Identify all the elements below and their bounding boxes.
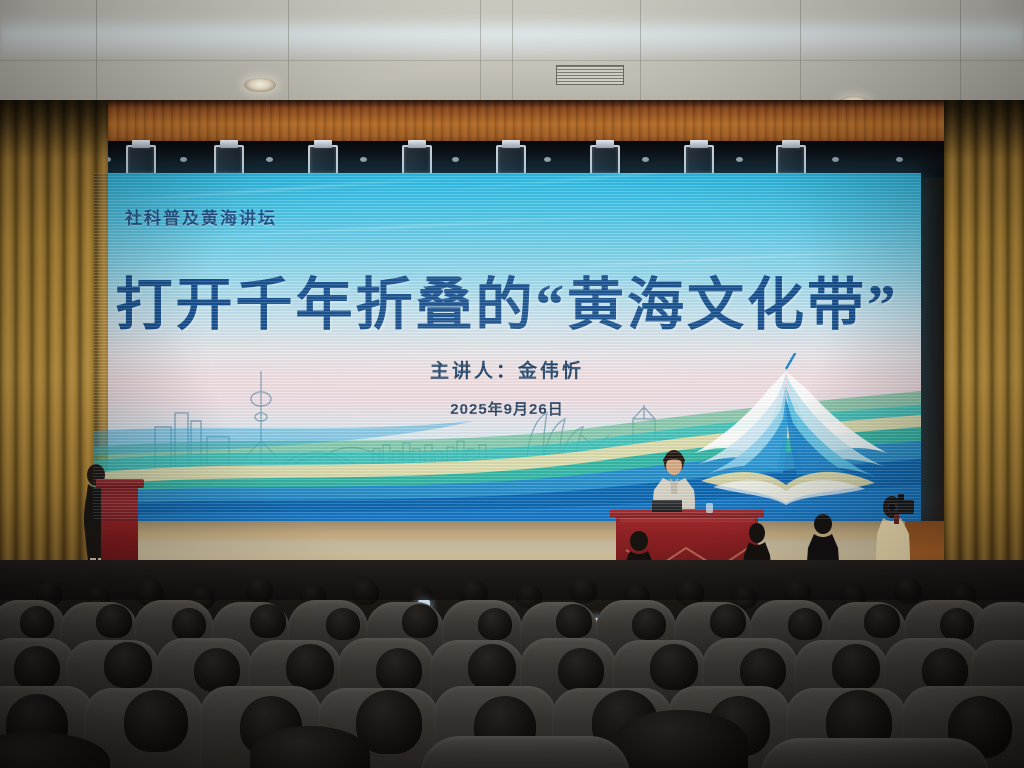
- stage-curtain-right: [944, 100, 1024, 600]
- stage-light-icon: [214, 145, 244, 175]
- lectern-top: [96, 479, 144, 488]
- stage-light-icon: [776, 145, 806, 175]
- stage-light-icon: [590, 145, 620, 175]
- stage-light-icon: [402, 145, 432, 175]
- stage-light-icon: [126, 145, 156, 175]
- lighting-truss: [96, 141, 946, 177]
- stage-light-icon: [496, 145, 526, 175]
- water-glass: [706, 503, 713, 513]
- slide-date: 2025年9月26日: [93, 398, 921, 419]
- air-vent-icon: [556, 65, 624, 85]
- head-table-top: [610, 509, 764, 517]
- laptop-on-table: [652, 500, 682, 512]
- slide-title: 打开千年折叠的“黄海文化带”: [93, 259, 921, 341]
- recessed-downlight-icon: [244, 78, 276, 92]
- stage-light-icon: [684, 145, 714, 175]
- led-stage-screen: 社科普及黄海讲坛 打开千年折叠的“黄海文化带” 主讲人：金伟忻 2025年9月2…: [93, 173, 921, 521]
- slide-eyebrow-text: 社科普及黄海讲坛: [125, 204, 277, 229]
- ceiling-panels: [0, 0, 1024, 104]
- auditorium-photo: 社科普及黄海讲坛 打开千年折叠的“黄海文化带” 主讲人：金伟忻 2025年9月2…: [0, 0, 1024, 768]
- slide-speaker-line: 主讲人：金伟忻: [93, 356, 921, 383]
- stage-light-icon: [308, 145, 338, 175]
- audience-area: [0, 560, 1024, 768]
